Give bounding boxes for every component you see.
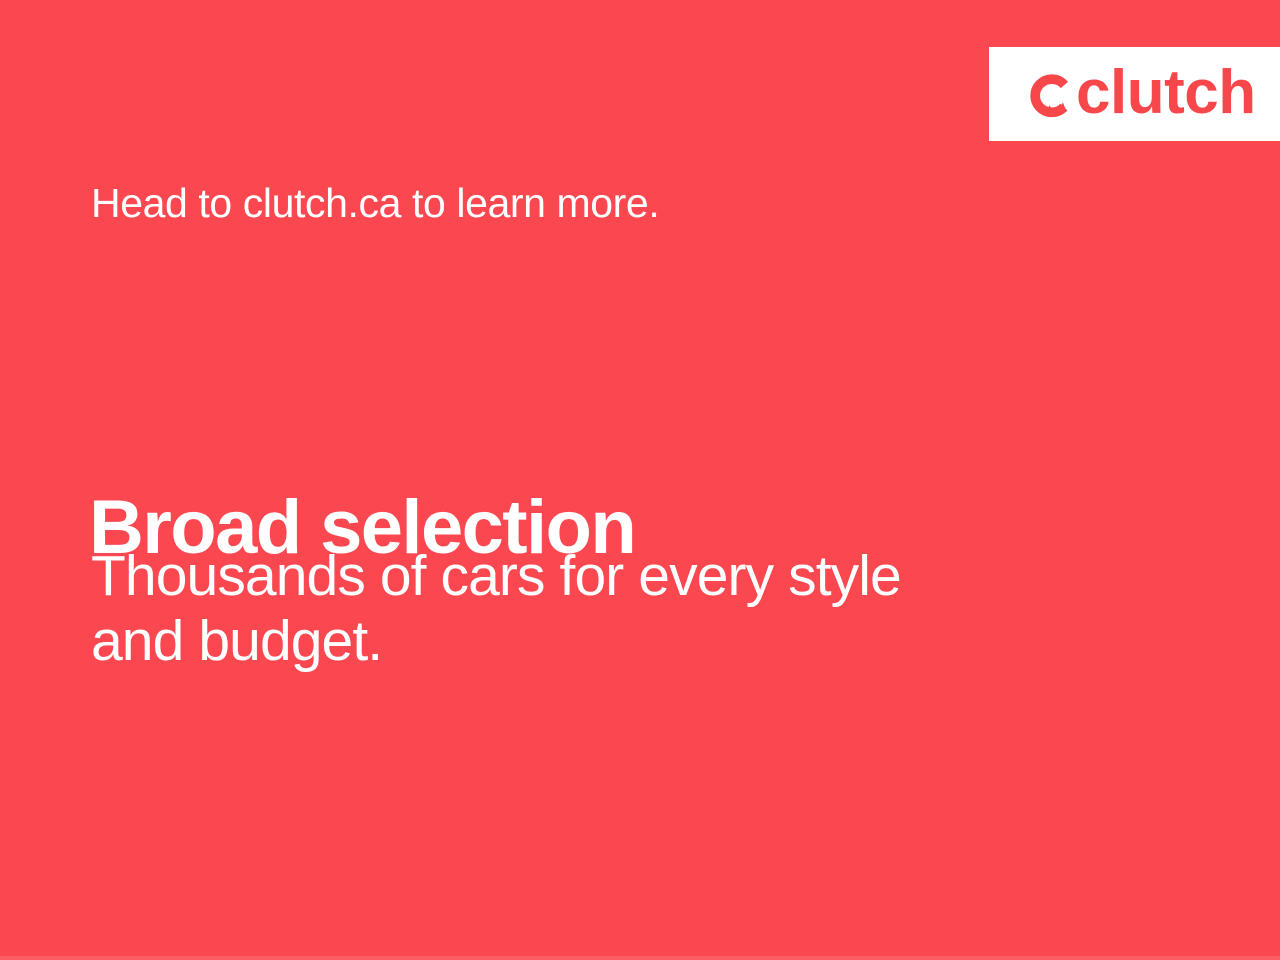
brand-logo-card: clutch <box>989 47 1280 141</box>
subtitle-text: Thousands of cars for every style and bu… <box>91 544 1051 674</box>
clutch-logo-lockup[interactable]: clutch <box>1028 64 1256 124</box>
clutch-c-mark-icon <box>1028 73 1074 119</box>
eyebrow-text: Head to clutch.ca to learn more. <box>91 181 659 227</box>
subtitle-line-1: Thousands of cars for every style <box>91 544 1051 609</box>
slide-canvas: clutch Head to clutch.ca to learn more. … <box>0 0 1280 960</box>
subtitle-line-2: and budget. <box>91 609 1051 674</box>
clutch-wordmark: clutch <box>1076 62 1256 124</box>
bottom-edge-strip <box>0 956 1280 960</box>
